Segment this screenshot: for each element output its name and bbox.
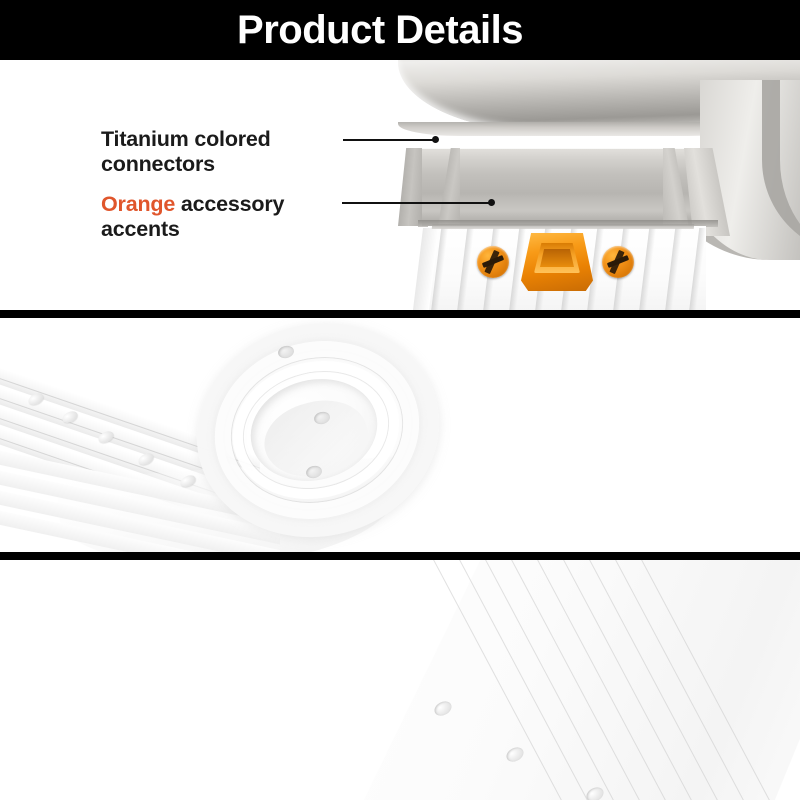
leader-line-orange — [342, 202, 492, 204]
header-bar: Product Details — [0, 0, 800, 60]
orange-screw-left-icon — [477, 246, 509, 278]
connector-left-taper — [398, 148, 422, 226]
callout-titanium-line1: Titanium colored — [101, 127, 351, 152]
orange-screw-right-icon — [602, 246, 634, 278]
panel-buckle: 316L steel folding Buckle — [0, 560, 800, 800]
panel-connector — [0, 60, 800, 310]
connector-product-photo — [0, 60, 800, 310]
callout-orange-accent-word: Orange — [101, 192, 175, 216]
callout-orange-rest: accessory — [175, 192, 284, 216]
product-details-infographic: Product Details — [0, 0, 800, 800]
leader-line-titanium — [343, 139, 435, 141]
panel-separator-2 — [0, 552, 800, 560]
callout-titanium-line2: connectors — [101, 152, 351, 177]
callout-orange: Orange accessory accents — [101, 192, 361, 242]
white-band — [300, 560, 800, 800]
callout-orange-line2: accents — [101, 217, 361, 242]
leader-dot-titanium — [432, 136, 439, 143]
page-title: Product Details — [0, 5, 760, 57]
strap-top-rail — [432, 224, 695, 229]
panel-band: Lightweight, soft and flattering to the … — [0, 318, 800, 552]
callout-orange-line1: Orange accessory — [101, 192, 361, 217]
panel-separator-1 — [0, 310, 800, 318]
band-body — [320, 560, 800, 800]
leader-dot-orange — [488, 199, 495, 206]
coiled-band-product-photo — [0, 318, 800, 552]
buckle-product-photo — [0, 560, 800, 800]
orange-release-button-core — [540, 249, 574, 267]
callout-titanium: Titanium colored connectors — [101, 127, 351, 177]
